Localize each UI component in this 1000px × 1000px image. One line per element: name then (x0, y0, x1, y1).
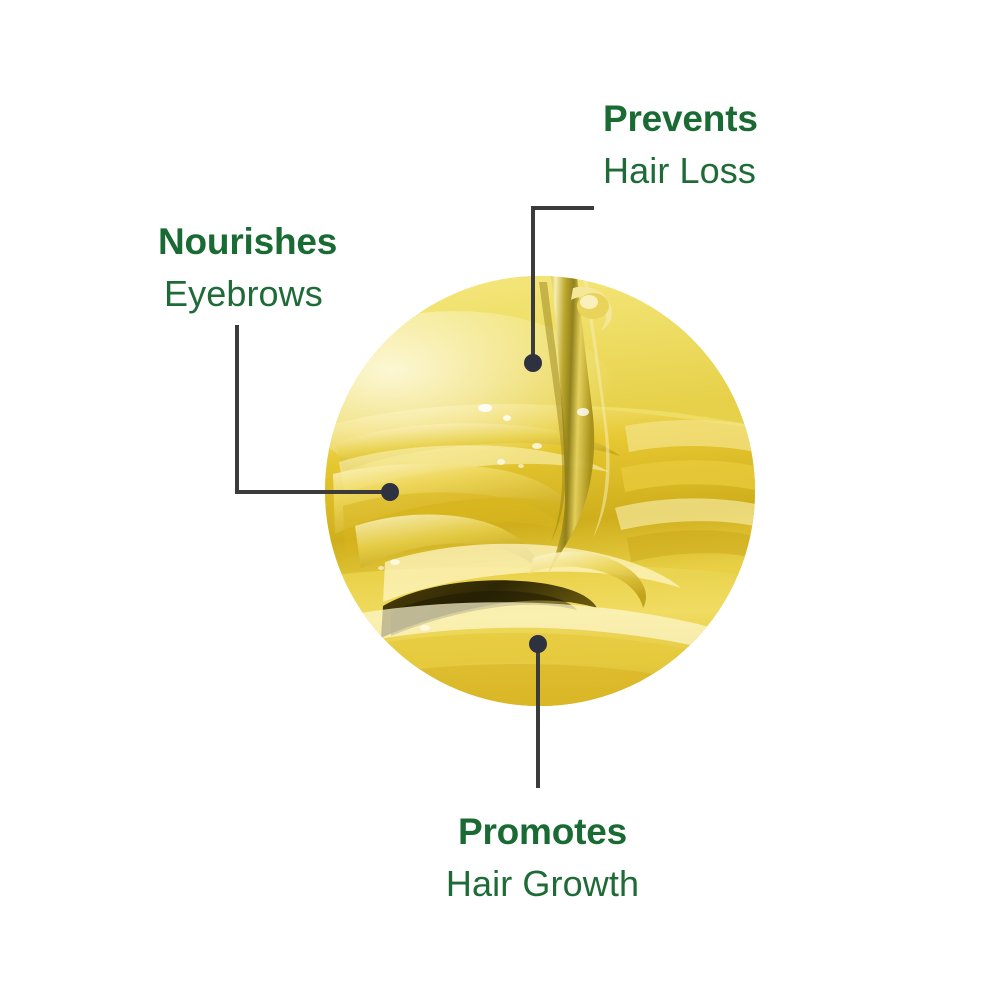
callout-nourishes: Nourishes Eyebrows (158, 223, 337, 312)
callout-promotes: Promotes Hair Growth (420, 813, 665, 902)
oil-texture-illustration (325, 276, 755, 706)
callout-promotes-headline: Promotes (420, 813, 665, 850)
callout-promotes-subtext: Hair Growth (420, 866, 665, 902)
callout-prevents: Prevents Hair Loss (603, 100, 758, 189)
oil-texture-circle (325, 276, 755, 706)
callout-prevents-subtext: Hair Loss (603, 153, 758, 189)
callout-prevents-headline: Prevents (603, 100, 758, 137)
infographic-canvas: Prevents Hair Loss Nourishes Eyebrows Pr… (0, 0, 1000, 1000)
callout-nourishes-subtext: Eyebrows (164, 276, 337, 312)
callout-nourishes-headline: Nourishes (158, 223, 337, 260)
